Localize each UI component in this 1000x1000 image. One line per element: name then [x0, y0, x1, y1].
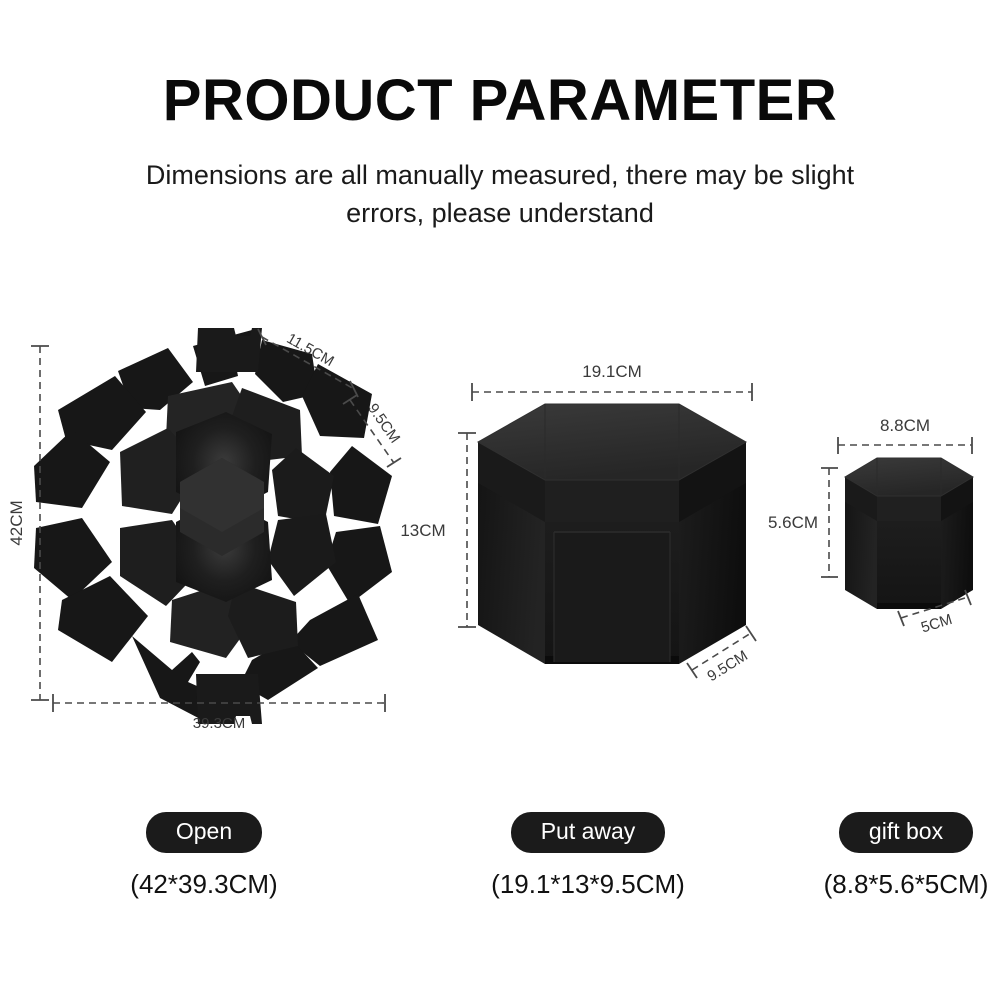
closed-box-front-panel	[554, 532, 670, 662]
caption-pill-open[interactable]: Open	[146, 812, 262, 853]
header: PRODUCT PARAMETER Dimensions are all man…	[0, 0, 1000, 233]
dimension-closed-width: 19.1CM	[472, 362, 752, 401]
caption-dims-gift-box: (8.8*5.6*5CM)	[800, 869, 1000, 900]
dimension-label-small-height: 5.6CM	[768, 513, 818, 532]
dimension-label-open-flap-short: 9.5CM	[364, 400, 403, 446]
dimension-label-closed-width: 19.1CM	[582, 362, 642, 381]
dimension-small-width: 8.8CM	[838, 416, 972, 454]
caption-row: Open (42*39.3CM) Put away (19.1*13*9.5CM…	[0, 800, 1000, 920]
dimension-open-height: 42CM	[7, 346, 49, 700]
caption-pill-put-away[interactable]: Put away	[511, 812, 666, 853]
dimension-label-closed-height: 13CM	[400, 521, 445, 540]
dimension-label-small-depth: 5CM	[919, 611, 954, 637]
caption-dims-open: (42*39.3CM)	[98, 869, 310, 900]
dimension-closed-height: 13CM	[400, 433, 476, 627]
caption-gift-box: gift box (8.8*5.6*5CM)	[800, 812, 1000, 900]
dimension-label-open-height: 42CM	[7, 500, 26, 545]
figure-closed-box: 19.1CM 13CM 9.5CM	[400, 362, 756, 685]
page-subtitle: Dimensions are all manually measured, th…	[140, 130, 860, 233]
dimension-label-small-width: 8.8CM	[880, 416, 930, 435]
dimension-label-open-width: 39.3CM	[193, 715, 246, 732]
exploded-top-flap	[196, 328, 262, 372]
product-figures-stage: 42CM 39.3CM 11.5CM 9.5CM	[0, 270, 1000, 770]
figure-open-box: 42CM 39.3CM 11.5CM 9.5CM	[7, 328, 403, 732]
caption-dims-put-away: (19.1*13*9.5CM)	[482, 869, 694, 900]
figure-small-box: 8.8CM 5.6CM 5CM	[768, 416, 973, 636]
dimension-label-closed-depth: 9.5CM	[704, 647, 750, 685]
dimension-small-height: 5.6CM	[768, 468, 838, 577]
caption-put-away: Put away (19.1*13*9.5CM)	[482, 812, 694, 900]
caption-pill-gift-box[interactable]: gift box	[839, 812, 973, 853]
caption-open: Open (42*39.3CM)	[98, 812, 310, 900]
page-title: PRODUCT PARAMETER	[0, 0, 1000, 130]
